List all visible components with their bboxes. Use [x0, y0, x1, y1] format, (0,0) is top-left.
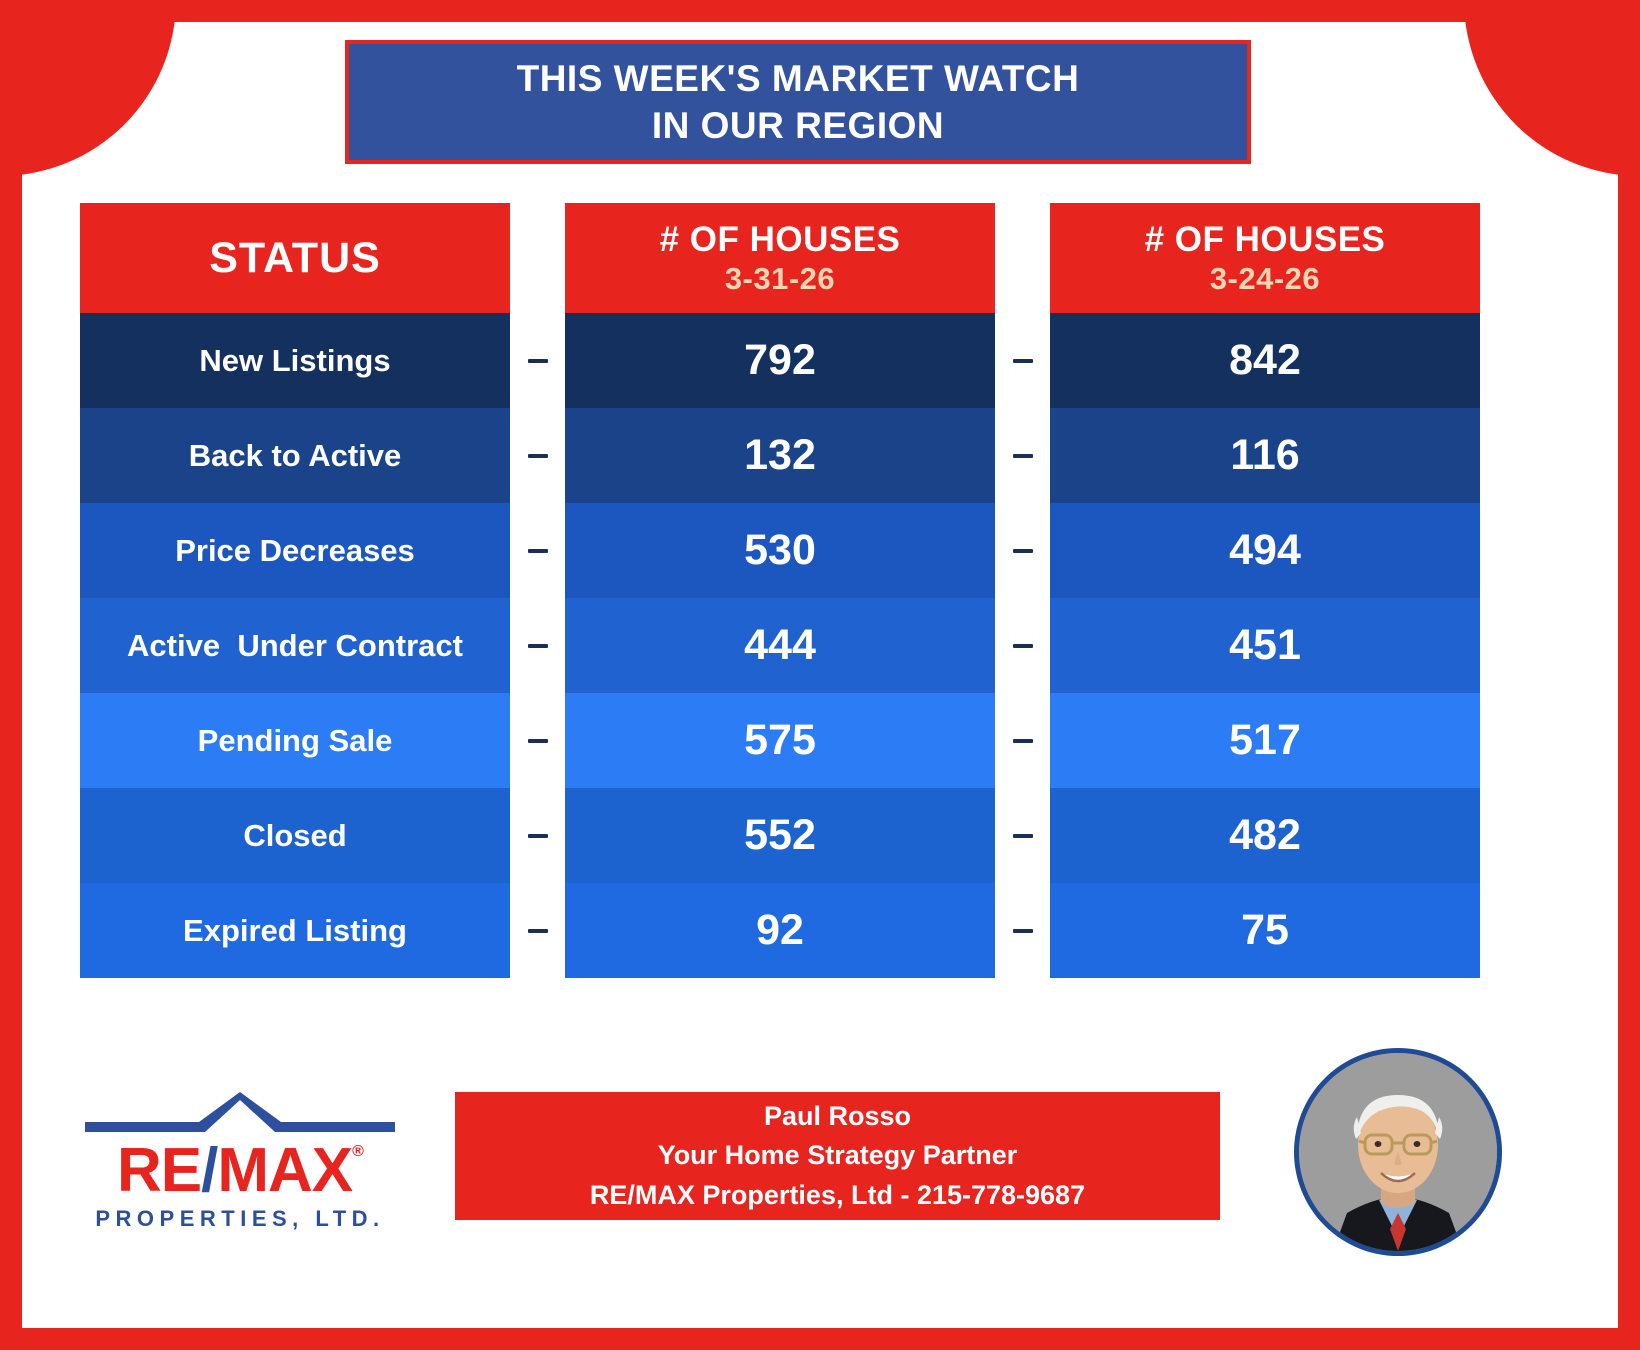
dash-icon [1013, 359, 1033, 363]
row-separator-1 [510, 788, 565, 883]
contact-block: Paul Rosso Your Home Strategy Partner RE… [455, 1092, 1220, 1220]
title-banner: THIS WEEK'S MARKET WATCH IN OUR REGION [345, 40, 1251, 164]
row-separator-2 [995, 503, 1050, 598]
dash-icon [1013, 739, 1033, 743]
row-status-cell: Expired Listing [80, 883, 510, 978]
remax-subtitle: PROPERTIES, LTD. [85, 1206, 395, 1232]
row-status-label: Price Decreases [175, 533, 415, 569]
title-line-2: IN OUR REGION [652, 102, 944, 149]
row-previous-week-value: 482 [1229, 811, 1301, 860]
row-current-week-value: 792 [744, 336, 816, 385]
row-status-cell: Back to Active [80, 408, 510, 503]
table-row: Price Decreases530494 [80, 503, 1480, 598]
title-line-1: THIS WEEK'S MARKET WATCH [517, 55, 1080, 102]
dash-icon [1013, 644, 1033, 648]
remax-logo: RE/MAX® PROPERTIES, LTD. [85, 1092, 395, 1232]
market-watch-table: STATUS # OF HOUSES 3-31-26 # OF HOUSES 3… [80, 203, 1480, 978]
row-status-label: Active Under Contract [127, 628, 463, 664]
row-separator-1 [510, 693, 565, 788]
header-status-label: STATUS [209, 234, 381, 283]
row-current-week-value: 575 [744, 716, 816, 765]
header-previous-week: # OF HOUSES 3-24-26 [1050, 203, 1480, 313]
row-previous-week-cell: 451 [1050, 598, 1480, 693]
row-previous-week-cell: 517 [1050, 693, 1480, 788]
row-current-week-cell: 444 [565, 598, 995, 693]
poster: THIS WEEK'S MARKET WATCH IN OUR REGION S… [0, 0, 1640, 1350]
table-row: New Listings792842 [80, 313, 1480, 408]
dash-icon [528, 359, 548, 363]
dash-icon [1013, 454, 1033, 458]
row-current-week-cell: 132 [565, 408, 995, 503]
table-row: Active Under Contract444451 [80, 598, 1480, 693]
row-current-week-cell: 552 [565, 788, 995, 883]
agent-name: Paul Rosso [764, 1097, 911, 1136]
row-status-label: Pending Sale [198, 723, 393, 759]
agent-avatar [1294, 1048, 1502, 1256]
row-separator-2 [995, 408, 1050, 503]
footer: RE/MAX® PROPERTIES, LTD. Paul Rosso Your… [0, 1030, 1640, 1290]
row-current-week-value: 92 [756, 906, 804, 955]
row-separator-1 [510, 598, 565, 693]
row-status-label: Closed [243, 818, 346, 854]
remax-wordmark: RE/MAX® [85, 1140, 395, 1202]
header-status: STATUS [80, 203, 510, 313]
header-current-date: 3-31-26 [725, 262, 835, 297]
table-header-row: STATUS # OF HOUSES 3-31-26 # OF HOUSES 3… [80, 203, 1480, 313]
agent-company-phone: RE/MAX Properties, Ltd - 215-778-9687 [590, 1176, 1085, 1215]
row-current-week-value: 444 [744, 621, 816, 670]
header-gap-2 [995, 203, 1050, 313]
row-previous-week-cell: 482 [1050, 788, 1480, 883]
row-previous-week-value: 116 [1230, 431, 1299, 480]
table-body: New Listings792842Back to Active132116Pr… [80, 313, 1480, 978]
dash-icon [528, 739, 548, 743]
row-current-week-value: 552 [744, 811, 816, 860]
dash-icon [528, 834, 548, 838]
row-previous-week-cell: 116 [1050, 408, 1480, 503]
header-previous-title: # OF HOUSES [1145, 220, 1386, 259]
row-previous-week-cell: 494 [1050, 503, 1480, 598]
row-separator-1 [510, 503, 565, 598]
row-status-label: Back to Active [189, 438, 402, 474]
dash-icon [1013, 834, 1033, 838]
table-row: Closed552482 [80, 788, 1480, 883]
row-separator-2 [995, 883, 1050, 978]
row-status-cell: Closed [80, 788, 510, 883]
row-previous-week-value: 494 [1229, 526, 1301, 575]
row-status-cell: Active Under Contract [80, 598, 510, 693]
row-current-week-cell: 792 [565, 313, 995, 408]
row-previous-week-cell: 842 [1050, 313, 1480, 408]
row-previous-week-cell: 75 [1050, 883, 1480, 978]
row-separator-2 [995, 788, 1050, 883]
row-current-week-value: 132 [744, 431, 816, 480]
dash-icon [528, 549, 548, 553]
dash-icon [1013, 929, 1033, 933]
dash-icon [528, 929, 548, 933]
row-current-week-cell: 530 [565, 503, 995, 598]
table-row: Back to Active132116 [80, 408, 1480, 503]
header-current-title: # OF HOUSES [660, 220, 901, 259]
header-gap-1 [510, 203, 565, 313]
row-separator-2 [995, 693, 1050, 788]
remax-re: RE [117, 1136, 201, 1205]
registered-mark-icon: ® [352, 1143, 363, 1160]
header-current-week: # OF HOUSES 3-31-26 [565, 203, 995, 313]
dash-icon [1013, 549, 1033, 553]
row-separator-1 [510, 408, 565, 503]
agent-tagline: Your Home Strategy Partner [658, 1136, 1018, 1175]
remax-max: MAX [217, 1136, 352, 1205]
header-previous-date: 3-24-26 [1210, 262, 1320, 297]
row-separator-1 [510, 313, 565, 408]
dash-icon [528, 644, 548, 648]
row-previous-week-value: 75 [1241, 906, 1289, 955]
table-row: Pending Sale575517 [80, 693, 1480, 788]
row-previous-week-value: 517 [1229, 716, 1301, 765]
row-previous-week-value: 842 [1229, 336, 1301, 385]
row-separator-2 [995, 313, 1050, 408]
row-status-label: New Listings [199, 343, 390, 379]
row-current-week-cell: 92 [565, 883, 995, 978]
remax-roof-icon [85, 1092, 395, 1138]
row-status-cell: Pending Sale [80, 693, 510, 788]
table-row: Expired Listing9275 [80, 883, 1480, 978]
row-status-label: Expired Listing [183, 913, 407, 949]
dash-icon [528, 454, 548, 458]
row-separator-1 [510, 883, 565, 978]
row-status-cell: New Listings [80, 313, 510, 408]
row-separator-2 [995, 598, 1050, 693]
remax-slash: / [201, 1136, 217, 1205]
row-current-week-cell: 575 [565, 693, 995, 788]
row-current-week-value: 530 [744, 526, 816, 575]
row-status-cell: Price Decreases [80, 503, 510, 598]
row-previous-week-value: 451 [1229, 621, 1301, 670]
